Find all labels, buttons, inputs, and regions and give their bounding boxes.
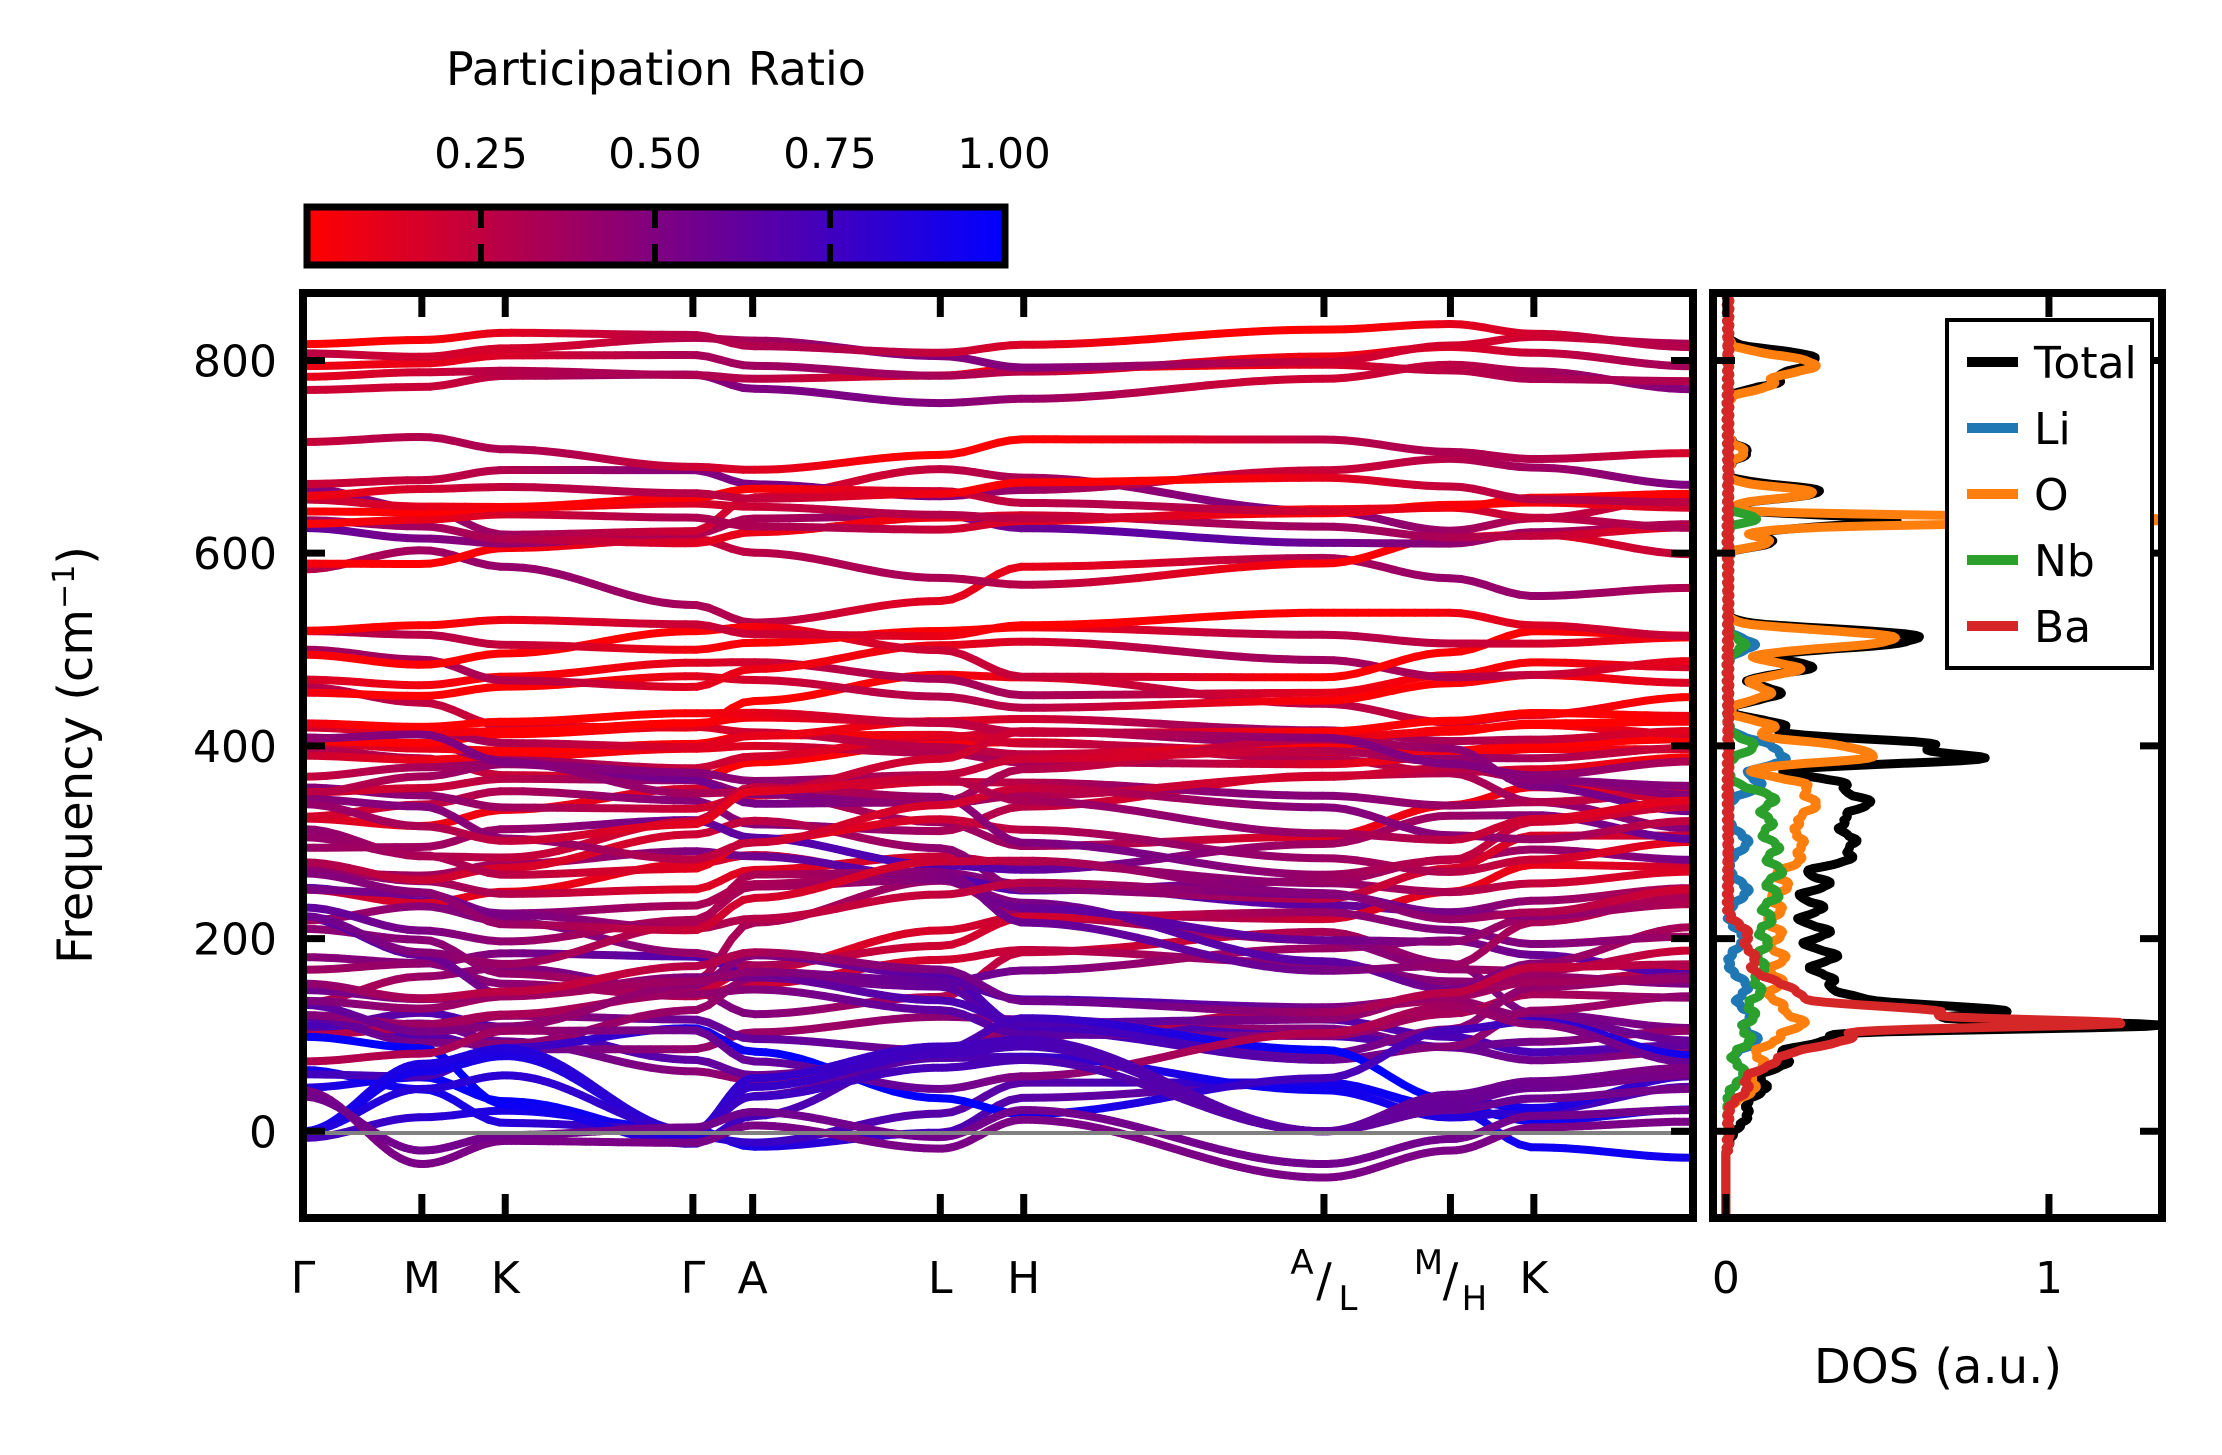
colorbar-tick-2: 0.75 (783, 129, 877, 178)
colorbar-tick-0: 0.25 (434, 129, 528, 178)
colorbar-ticklabels: 0.25 0.50 0.75 1.00 (434, 129, 1051, 178)
phonon-figure-svg: Participation Ratio 0.25 0.50 0.75 1.00 … (0, 0, 2222, 1455)
colorbar-group: Participation Ratio 0.25 0.50 0.75 1.00 (307, 42, 1051, 265)
band-structure-panel: 0200400600800 ΓMKΓALHA/LM/HK (193, 293, 1693, 1319)
colorbar-tick-1: 0.50 (608, 129, 702, 178)
figure-canvas: Participation Ratio 0.25 0.50 0.75 1.00 … (0, 0, 2222, 1455)
colorbar-tick-3: 1.00 (957, 129, 1051, 178)
colorbar-title: Participation Ratio (446, 42, 866, 96)
